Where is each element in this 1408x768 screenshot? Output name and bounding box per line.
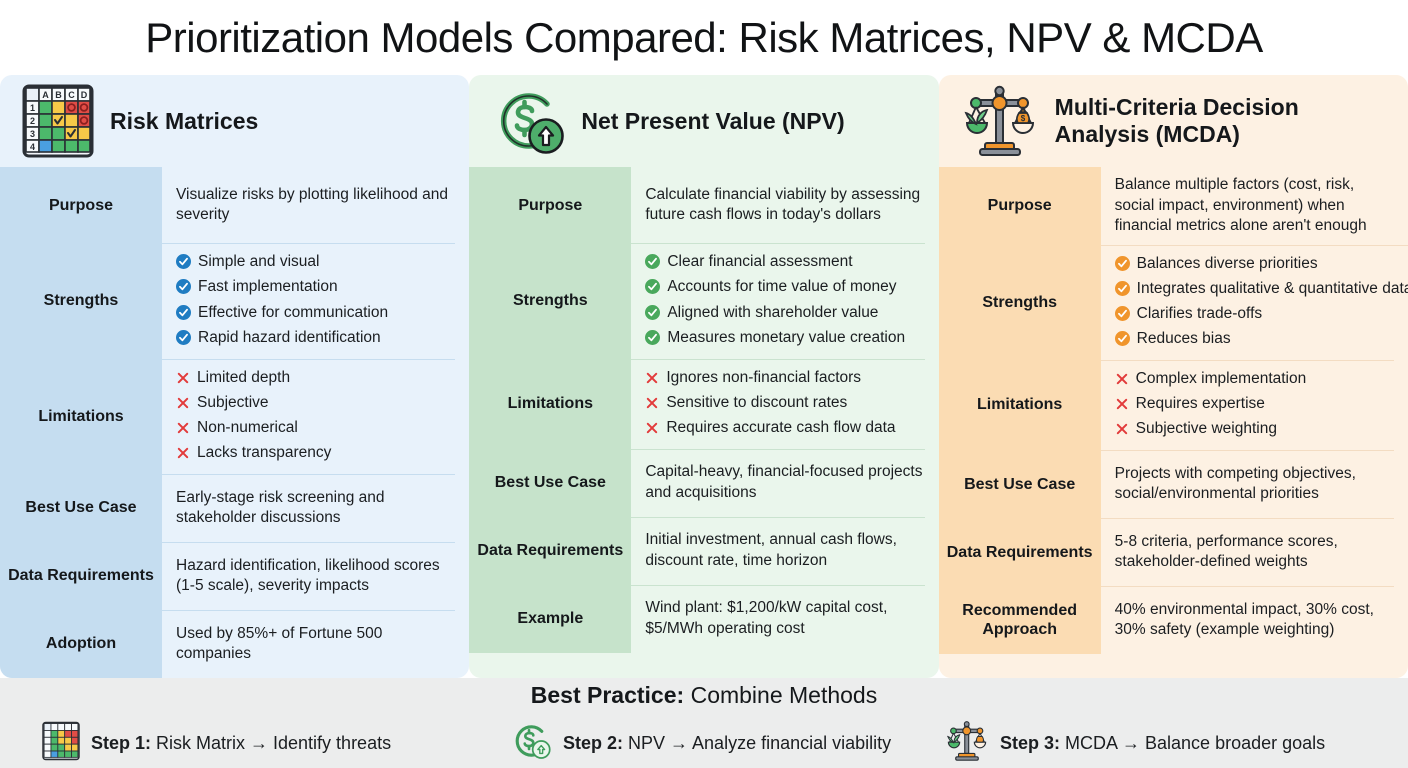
list-item-label: Integrates qualitative & quantitative da… (1137, 278, 1408, 299)
table-row: Strengths Balances diverse priorities In… (939, 245, 1408, 360)
row-label: Adoption (0, 610, 162, 678)
step-1: Step 1: Risk Matrix → Identify threats (0, 721, 470, 766)
table-row: Adoption Used by 85%+ of Fortune 500 com… (0, 610, 469, 678)
check-circle-icon (1115, 331, 1130, 352)
list-item: Complex implementation (1115, 368, 1392, 392)
row-label: Best Use Case (469, 449, 631, 517)
list-item-label: Requires expertise (1136, 393, 1265, 414)
step-1-desc: Risk Matrix → Identify threats (151, 733, 391, 753)
list-item: Effective for communication (176, 302, 453, 326)
row-value: Used by 85%+ of Fortune 500 companies (162, 610, 469, 678)
row-text: Initial investment, annual cash flows, d… (645, 530, 922, 571)
table-row: Purpose Balance multiple factors (cost, … (939, 167, 1408, 244)
row-value: Limited depth Subjective Non-numerical (162, 359, 469, 474)
list-item-label: Non-numerical (197, 417, 298, 438)
table-row: Limitations Limited depth Subjective (0, 359, 469, 474)
dollar-circle-arrow-up-icon (491, 84, 565, 158)
row-label: Purpose (469, 167, 631, 243)
table-row: Example Wind plant: $1,200/kW capital co… (469, 585, 938, 653)
row-label: Best Use Case (939, 450, 1101, 518)
cross-icon (1115, 396, 1129, 417)
svg-text:2: 2 (30, 116, 35, 126)
rows-npv: Purpose Calculate financial viability by… (469, 167, 938, 678)
check-circle-icon (645, 305, 660, 326)
cross-icon (176, 370, 190, 391)
row-label: Data Requirements (939, 518, 1101, 586)
list-item: Clarifies trade-offs (1115, 303, 1408, 327)
row-text: Wind plant: $1,200/kW capital cost, $5/M… (645, 598, 922, 639)
row-text: Visualize risks by plotting likelihood a… (176, 185, 453, 226)
check-circle-icon (176, 279, 191, 300)
check-circle-icon (1115, 306, 1130, 327)
row-label: Limitations (469, 359, 631, 449)
balance-scale-icon (945, 719, 989, 768)
page-title: Prioritization Models Compared: Risk Mat… (145, 14, 1262, 62)
svg-text:$: $ (1020, 114, 1025, 123)
list-item: Integrates qualitative & quantitative da… (1115, 278, 1408, 302)
list-item-label: Rapid hazard identification (198, 327, 381, 348)
cross-icon (1115, 371, 1129, 392)
row-text: Balance multiple factors (cost, risk, so… (1115, 175, 1392, 236)
cross-icon (645, 420, 659, 441)
row-value: Initial investment, annual cash flows, d… (631, 517, 938, 585)
row-label: Limitations (939, 360, 1101, 450)
row-value: Visualize risks by plotting likelihood a… (162, 167, 469, 243)
step-3-text: Step 3: MCDA → Balance broader goals (1000, 733, 1325, 754)
table-row: Data Requirements Initial investment, an… (469, 517, 938, 585)
table-row: Best Use Case Projects with competing ob… (939, 450, 1408, 518)
step-2: Step 2: NPV → Analyze financial viabilit… (470, 720, 940, 767)
list-item-label: Subjective (197, 392, 269, 413)
svg-text:A: A (42, 90, 49, 100)
svg-text:1: 1 (30, 103, 35, 113)
row-value: Complex implementation Requires expertis… (1101, 360, 1408, 450)
row-label: Strengths (0, 243, 162, 358)
list-item: Reduces bias (1115, 328, 1408, 352)
footer-best-practice: Best Practice: Combine Methods (0, 678, 1408, 768)
best-practice-heading: Best Practice: Combine Methods (531, 682, 877, 709)
step-2-text: Step 2: NPV → Analyze financial viabilit… (563, 733, 891, 754)
list-item-label: Lacks transparency (197, 442, 331, 463)
row-text: Projects with competing objectives, soci… (1115, 464, 1392, 505)
row-value: Simple and visual Fast implementation Ef… (162, 243, 469, 358)
table-row: Strengths Simple and visual Fast impleme… (0, 243, 469, 358)
list-item-label: Simple and visual (198, 251, 319, 272)
row-label: Example (469, 585, 631, 653)
row-value: 40% environmental impact, 30% cost, 30% … (1101, 586, 1408, 654)
svg-text:D: D (81, 90, 88, 100)
list-item: Rapid hazard identification (176, 327, 453, 351)
column-title: Risk Matrices (110, 108, 258, 136)
row-label: Recommended Approach (939, 586, 1101, 654)
cross-icon (176, 420, 190, 441)
row-value: Projects with competing objectives, soci… (1101, 450, 1408, 518)
row-value: Early-stage risk screening and stakehold… (162, 474, 469, 542)
table-row: Limitations Complex implementation Requi… (939, 360, 1408, 450)
column-header-risk-matrices: 12 34 AB CD (0, 75, 469, 167)
row-value: Capital-heavy, financial-focused project… (631, 449, 938, 517)
row-text: Calculate financial viability by assessi… (645, 185, 922, 226)
cross-icon (645, 370, 659, 391)
check-circle-icon (1115, 281, 1130, 302)
list-item: Sensitive to discount rates (645, 392, 922, 416)
table-row: Recommended Approach 40% environmental i… (939, 586, 1408, 654)
list-item-label: Fast implementation (198, 276, 338, 297)
dollar-circle-arrow-up-icon (510, 720, 552, 767)
list-item: Limited depth (176, 367, 453, 391)
row-text: 5-8 criteria, performance scores, stakeh… (1115, 532, 1392, 573)
step-2-desc: NPV → Analyze financial viability (623, 733, 891, 753)
rows-mcda: Purpose Balance multiple factors (cost, … (939, 167, 1408, 678)
row-label: Strengths (469, 243, 631, 358)
table-row: Purpose Visualize risks by plotting like… (0, 167, 469, 243)
column-title: Net Present Value (NPV) (581, 108, 844, 136)
list-item: Non-numerical (176, 417, 453, 441)
column-mcda: $ Multi-Criteria Decision Analysis (MCDA… (939, 75, 1408, 678)
strengths-list: Simple and visual Fast implementation Ef… (176, 251, 453, 350)
cross-icon (176, 445, 190, 466)
table-row: Purpose Calculate financial viability by… (469, 167, 938, 243)
check-circle-icon (176, 305, 191, 326)
row-label: Best Use Case (0, 474, 162, 542)
column-risk-matrices: 12 34 AB CD (0, 75, 469, 678)
best-practice-text: Combine Methods (684, 682, 877, 708)
list-item-label: Aligned with shareholder value (667, 302, 878, 323)
step-1-text: Step 1: Risk Matrix → Identify threats (91, 733, 391, 754)
risk-matrix-grid-icon: 12 34 AB CD (22, 84, 94, 158)
balance-scale-icon: $ (961, 83, 1039, 159)
step-2-label: Step 2: (563, 733, 623, 753)
list-item-label: Reduces bias (1137, 328, 1231, 349)
column-header-npv: Net Present Value (NPV) (469, 75, 938, 167)
strengths-list: Clear financial assessment Accounts for … (645, 251, 922, 350)
list-item: Measures monetary value creation (645, 327, 922, 351)
table-row: Best Use Case Capital-heavy, financial-f… (469, 449, 938, 517)
rows-risk-matrices: Purpose Visualize risks by plotting like… (0, 167, 469, 678)
check-circle-icon (1115, 256, 1130, 277)
row-label: Purpose (939, 167, 1101, 244)
strengths-list: Balances diverse priorities Integrates q… (1115, 253, 1408, 352)
limitations-list: Ignores non-financial factors Sensitive … (645, 367, 922, 441)
list-item: Accounts for time value of money (645, 276, 922, 300)
row-value: Hazard identification, likelihood scores… (162, 542, 469, 610)
cross-icon (176, 395, 190, 416)
list-item: Requires expertise (1115, 393, 1392, 417)
row-value: Ignores non-financial factors Sensitive … (631, 359, 938, 449)
list-item: Ignores non-financial factors (645, 367, 922, 391)
list-item-label: Complex implementation (1136, 368, 1307, 389)
column-npv: Net Present Value (NPV) Purpose Calculat… (469, 75, 938, 678)
check-circle-icon (176, 254, 191, 275)
list-item: Requires accurate cash flow data (645, 417, 922, 441)
svg-text:3: 3 (30, 129, 35, 139)
list-item-label: Sensitive to discount rates (666, 392, 847, 413)
cross-icon (645, 395, 659, 416)
table-row: Best Use Case Early-stage risk screening… (0, 474, 469, 542)
list-item-label: Effective for communication (198, 302, 388, 323)
column-header-mcda: $ Multi-Criteria Decision Analysis (MCDA… (939, 75, 1408, 167)
list-item-label: Requires accurate cash flow data (666, 417, 895, 438)
list-item-label: Balances diverse priorities (1137, 253, 1318, 274)
row-value: Balance multiple factors (cost, risk, so… (1101, 167, 1408, 244)
table-row: Strengths Clear financial assessment Acc… (469, 243, 938, 358)
check-circle-icon (645, 330, 660, 351)
row-text: Hazard identification, likelihood scores… (176, 556, 453, 597)
infographic-page: Prioritization Models Compared: Risk Mat… (0, 0, 1408, 768)
row-label: Strengths (939, 245, 1101, 360)
step-3-desc: MCDA → Balance broader goals (1060, 733, 1325, 753)
list-item: Clear financial assessment (645, 251, 922, 275)
best-practice-label: Best Practice: (531, 682, 684, 708)
table-row: Data Requirements 5-8 criteria, performa… (939, 518, 1408, 586)
row-value: Balances diverse priorities Integrates q… (1101, 245, 1408, 360)
row-value: Calculate financial viability by assessi… (631, 167, 938, 243)
list-item-label: Ignores non-financial factors (666, 367, 861, 388)
limitations-list: Limited depth Subjective Non-numerical (176, 367, 453, 466)
list-item-label: Clear financial assessment (667, 251, 852, 272)
list-item-label: Subjective weighting (1136, 418, 1277, 439)
table-row: Limitations Ignores non-financial factor… (469, 359, 938, 449)
svg-text:4: 4 (30, 142, 35, 152)
check-circle-icon (645, 279, 660, 300)
check-circle-icon (645, 254, 660, 275)
title-bar: Prioritization Models Compared: Risk Mat… (0, 0, 1408, 75)
cross-icon (1115, 421, 1129, 442)
row-text: 40% environmental impact, 30% cost, 30% … (1115, 600, 1392, 641)
row-value: 5-8 criteria, performance scores, stakeh… (1101, 518, 1408, 586)
list-item: Balances diverse priorities (1115, 253, 1408, 277)
check-circle-icon (176, 330, 191, 351)
risk-matrix-grid-icon (42, 721, 80, 766)
row-label: Data Requirements (469, 517, 631, 585)
comparison-columns: 12 34 AB CD (0, 75, 1408, 678)
row-text: Early-stage risk screening and stakehold… (176, 488, 453, 529)
row-value: Clear financial assessment Accounts for … (631, 243, 938, 358)
step-1-label: Step 1: (91, 733, 151, 753)
list-item-label: Clarifies trade-offs (1137, 303, 1262, 324)
list-item: Lacks transparency (176, 442, 453, 466)
steps-row: Step 1: Risk Matrix → Identify threats (0, 719, 1408, 768)
row-label: Data Requirements (0, 542, 162, 610)
row-text: Used by 85%+ of Fortune 500 companies (176, 624, 453, 665)
step-3: Step 3: MCDA → Balance broader goals (940, 719, 1408, 768)
list-item: Aligned with shareholder value (645, 302, 922, 326)
list-item-label: Measures monetary value creation (667, 327, 905, 348)
list-item: Subjective (176, 392, 453, 416)
svg-text:B: B (55, 90, 62, 100)
limitations-list: Complex implementation Requires expertis… (1115, 368, 1392, 442)
list-item-label: Limited depth (197, 367, 290, 388)
column-title: Multi-Criteria Decision Analysis (MCDA) (1055, 94, 1392, 149)
svg-text:C: C (68, 90, 75, 100)
list-item: Simple and visual (176, 251, 453, 275)
table-row: Data Requirements Hazard identification,… (0, 542, 469, 610)
row-text: Capital-heavy, financial-focused project… (645, 462, 922, 503)
list-item: Subjective weighting (1115, 418, 1392, 442)
list-item: Fast implementation (176, 276, 453, 300)
row-label: Purpose (0, 167, 162, 243)
list-item-label: Accounts for time value of money (667, 276, 896, 297)
row-value: Wind plant: $1,200/kW capital cost, $5/M… (631, 585, 938, 653)
step-3-label: Step 3: (1000, 733, 1060, 753)
row-label: Limitations (0, 359, 162, 474)
